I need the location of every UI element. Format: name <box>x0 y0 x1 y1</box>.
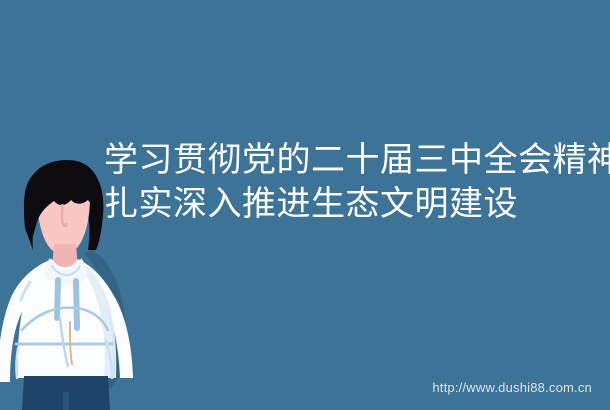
hair-back-icon <box>24 160 103 250</box>
pants-icon <box>22 376 110 410</box>
promo-banner: 学习贯彻党的二十届三中全会精神 扎实深入推进生态文明建设 http://www.… <box>0 0 610 410</box>
sleeve-seam-right-icon <box>106 340 112 378</box>
pocket-seam-top-icon <box>22 308 108 330</box>
hoodie-body-icon <box>0 259 133 382</box>
shoulder-seam-icon <box>21 282 30 300</box>
headline-line-2: 扎实深入推进生态文明建设 <box>104 182 600 226</box>
hoodie-shadow-icon <box>78 262 116 378</box>
drawstring-left-icon <box>57 280 58 318</box>
pocket-fold-left-icon <box>60 318 68 366</box>
pocket-fold-right-icon <box>70 322 72 364</box>
neck-icon <box>52 244 78 268</box>
watermark-url: http://www.dushi88.com.cn <box>432 380 592 396</box>
sleeve-seam-left-icon <box>16 348 18 378</box>
headline-line-1: 学习贯彻党的二十届三中全会精神 <box>104 138 600 182</box>
hair-fringe-icon <box>24 162 103 236</box>
pants-gap-icon <box>63 392 69 410</box>
face-icon <box>37 174 90 254</box>
headline: 学习贯彻党的二十届三中全会精神 扎实深入推进生态文明建设 <box>104 138 600 226</box>
figure-cast-shadow <box>84 250 126 392</box>
hood-collar-icon <box>45 258 87 286</box>
nose-icon <box>62 205 67 226</box>
hood-seam-icon <box>52 266 80 275</box>
drawstring-right-icon <box>76 281 77 328</box>
